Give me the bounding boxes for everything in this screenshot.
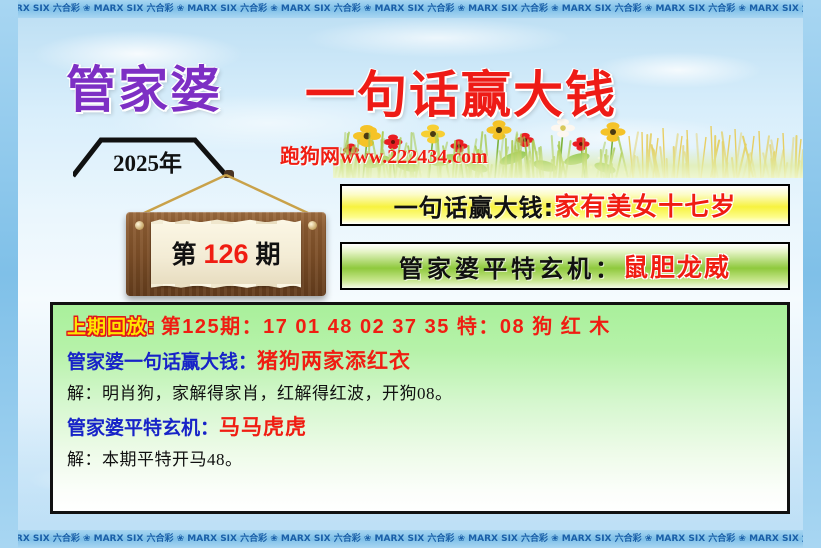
border-right: MARX SIX 六合彩 ❀ MARX SIX 六合彩 ❀ MARX SIX 六… [803, 0, 821, 548]
screw-left-icon [135, 221, 144, 230]
block-0-explain: 解：明肖狗，家解得家肖，红解得红波，开狗08。 [67, 384, 453, 403]
stat-box-mystery: 管家婆平特玄机：鼠胆龙威 [340, 242, 790, 290]
sign-paper: 第126期 [151, 222, 301, 286]
poster-body: 管家婆 一句话赢大钱 跑狗网www.222434.com 2025年 第126期 [18, 18, 803, 530]
block-1-value: 马马虎虎 [219, 415, 307, 439]
border-bottom: MARX SIX 六合彩 ❀ MARX SIX 六合彩 ❀ MARX SIX 六… [0, 530, 821, 548]
period-text: 第126期 [151, 222, 301, 286]
block-1-explain-row: 解：本期平特开马48。 [67, 451, 773, 468]
border-left: MARX SIX 六合彩 ❀ MARX SIX 六合彩 ❀ MARX SIX 六… [0, 0, 18, 548]
period-prefix: 第 [171, 242, 196, 269]
stat-value-phrase: 家有美女十七岁 [554, 187, 736, 223]
stat-value-mystery: 鼠胆龙威 [623, 248, 731, 284]
screw-right-icon [308, 221, 317, 230]
border-bottom-text: MARX SIX 六合彩 ❀ MARX SIX 六合彩 ❀ MARX SIX 六… [0, 534, 821, 544]
page-title: 一句话赢大钱 [305, 55, 617, 127]
border-top: MARX SIX 六合彩 ❀ MARX SIX 六合彩 ❀ MARX SIX 六… [0, 0, 821, 18]
block-0-value: 猪狗两家添红衣 [257, 349, 411, 373]
sign-board: 第126期 [126, 212, 326, 296]
poster: MARX SIX 六合彩 ❀ MARX SIX 六合彩 ❀ MARX SIX 六… [0, 0, 821, 548]
site-url: 跑狗网www.222434.com [280, 140, 488, 169]
stat-box-phrase: 一句话赢大钱:家有美女十七岁 [340, 184, 790, 226]
border-top-text: MARX SIX 六合彩 ❀ MARX SIX 六合彩 ❀ MARX SIX 六… [0, 4, 821, 14]
recap-row: 上期回放: 第125期：17 01 48 02 37 35 特：08 狗 红 木 [67, 317, 773, 337]
recap-tag: 上期回放: [67, 316, 156, 338]
period-sign: 第126期 [126, 170, 326, 298]
block-0-label: 管家婆一句话赢大钱： [67, 351, 257, 373]
block-1-explain: 解：本期平特开马48。 [67, 450, 243, 469]
content-panel: 上期回放: 第125期：17 01 48 02 37 35 特：08 狗 红 木… [50, 302, 790, 514]
block-1-label: 管家婆平特玄机： [67, 417, 219, 439]
recap-body: 第125期：17 01 48 02 37 35 特：08 狗 红 木 [161, 316, 611, 338]
stat-label-mystery: 管家婆平特玄机： [399, 249, 623, 284]
block-1-heading: 管家婆平特玄机：马马虎虎 [67, 417, 773, 438]
period-suffix: 期 [256, 242, 281, 269]
block-0-heading: 管家婆一句话赢大钱：猪狗两家添红衣 [67, 351, 773, 372]
block-0-explain-row: 解：明肖狗，家解得家肖，红解得红波，开狗08。 [67, 385, 773, 402]
period-number: 126 [196, 239, 255, 269]
stat-label-phrase: 一句话赢大钱: [394, 188, 555, 223]
brand-title: 管家婆 [66, 50, 222, 122]
